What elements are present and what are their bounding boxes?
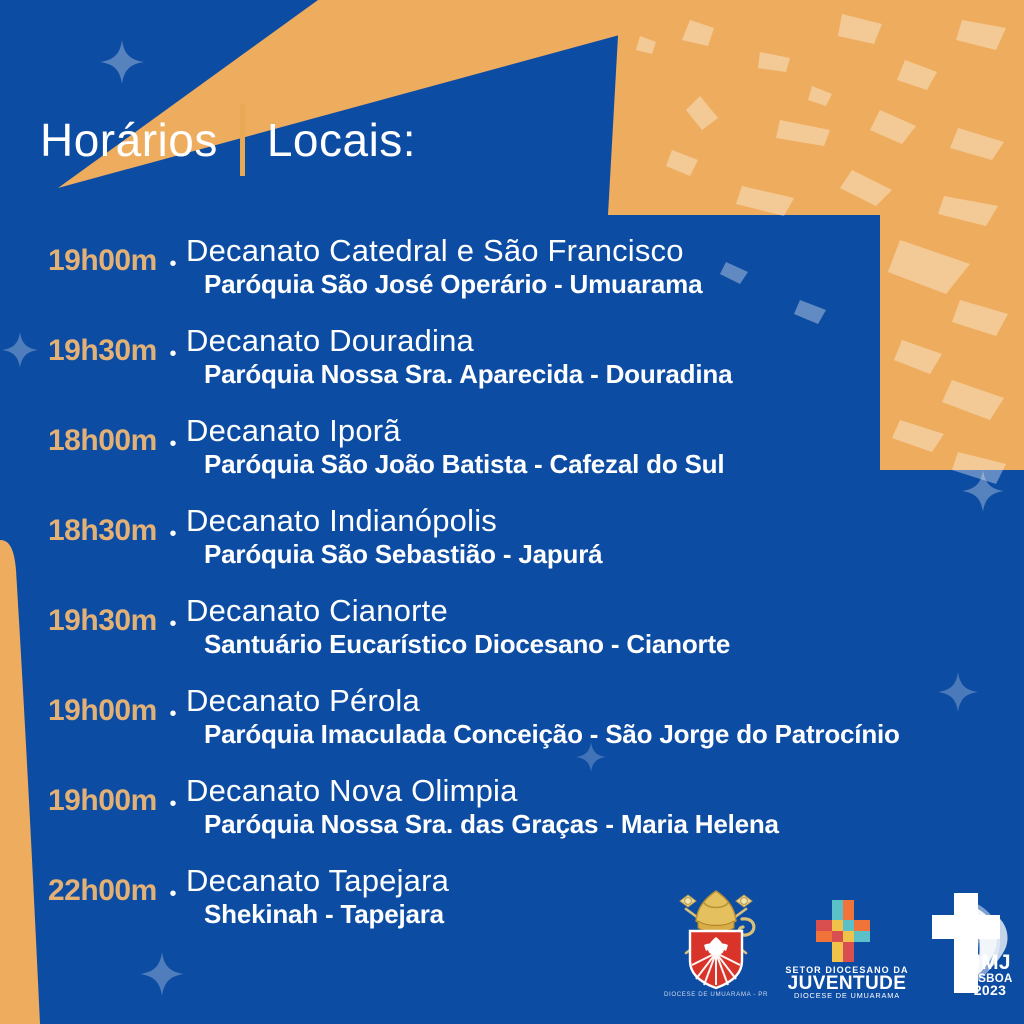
diocese-caption: DIOCESE DE UMUARAMA - PR	[664, 991, 768, 998]
list-item: 19h00m • Decanato Nova Olimpia Paróquia …	[0, 768, 1024, 858]
sparkle-icon	[100, 40, 144, 84]
entry-decanato: Decanato Catedral e São Francisco	[186, 234, 1024, 269]
entry-decanato: Decanato Iporã	[186, 414, 1024, 449]
poster-canvas: Horários Locais: 19h00m • Decanato Cated…	[0, 0, 1024, 1024]
entry-local: Santuário Eucarístico Diocesano - Cianor…	[186, 630, 1024, 659]
list-item: 19h00m • Decanato Pérola Paróquia Imacul…	[0, 678, 1024, 768]
entry-decanato: Decanato Douradina	[186, 324, 1024, 359]
entry-time: 19h00m	[0, 768, 160, 816]
entry-decanato: Decanato Pérola	[186, 684, 1024, 719]
jmj-lisboa-2023-icon: JMJ LISBOA 2023	[926, 889, 1018, 999]
bullet-icon: •	[160, 588, 186, 634]
bullet-icon: •	[160, 318, 186, 364]
sparkle-icon	[140, 952, 184, 996]
entry-texts: Decanato Iporã Paróquia São João Batista…	[186, 408, 1024, 479]
entry-local: Paróquia São José Operário - Umuarama	[186, 270, 1024, 299]
list-item: 19h30m • Decanato Cianorte Santuário Euc…	[0, 588, 1024, 678]
jmj-line3: 2023	[974, 982, 1006, 998]
diocese-umuarama-coat-of-arms-icon: DIOCESE DE UMUARAMA - PR	[664, 887, 768, 999]
entry-local: Paróquia São Sebastião - Japurá	[186, 540, 1024, 569]
entry-local: Paróquia Imaculada Conceição - São Jorge…	[186, 720, 1024, 749]
bullet-icon: •	[160, 228, 186, 274]
entry-texts: Decanato Pérola Paróquia Imaculada Conce…	[186, 678, 1024, 749]
entry-decanato: Decanato Indianópolis	[186, 504, 1024, 539]
entry-local: Paróquia Nossa Sra. das Graças - Maria H…	[186, 810, 1024, 839]
page-title-locais: Locais:	[267, 117, 416, 163]
entry-time: 18h00m	[0, 408, 160, 456]
entry-time: 19h00m	[0, 678, 160, 726]
entry-time: 19h30m	[0, 318, 160, 366]
entry-texts: Decanato Cianorte Santuário Eucarístico …	[186, 588, 1024, 659]
setor-diocesano-juventude-icon: SETOR DIOCESANO DA JUVENTUDE DIOCESE DE …	[782, 894, 912, 999]
entry-texts: Decanato Nova Olimpia Paróquia Nossa Sra…	[186, 768, 1024, 839]
entry-time: 19h00m	[0, 228, 160, 276]
entry-texts: Decanato Indianópolis Paróquia São Sebas…	[186, 498, 1024, 569]
bullet-icon: •	[160, 678, 186, 724]
bullet-icon: •	[160, 768, 186, 814]
entry-decanato: Decanato Nova Olimpia	[186, 774, 1024, 809]
list-item: 18h00m • Decanato Iporã Paróquia São Joã…	[0, 408, 1024, 498]
title-divider	[240, 104, 245, 176]
juventude-line3: DIOCESE DE UMUARAMA	[794, 991, 900, 999]
page-title-horarios: Horários	[40, 117, 218, 163]
entry-texts: Decanato Douradina Paróquia Nossa Sra. A…	[186, 318, 1024, 389]
entry-time: 19h30m	[0, 588, 160, 636]
list-item: 19h00m • Decanato Catedral e São Francis…	[0, 228, 1024, 318]
entry-time: 18h30m	[0, 498, 160, 546]
jmj-line1: JMJ	[969, 951, 1011, 974]
schedule-list: 19h00m • Decanato Catedral e São Francis…	[0, 228, 1024, 948]
page-title: Horários Locais:	[40, 104, 416, 176]
bullet-icon: •	[160, 408, 186, 454]
entry-time: 22h00m	[0, 858, 160, 906]
entry-texts: Decanato Catedral e São Francisco Paróqu…	[186, 228, 1024, 299]
bullet-icon: •	[160, 858, 186, 904]
entry-decanato: Decanato Cianorte	[186, 594, 1024, 629]
entry-local: Paróquia São João Batista - Cafezal do S…	[186, 450, 1024, 479]
list-item: 19h30m • Decanato Douradina Paróquia Nos…	[0, 318, 1024, 408]
logo-row: DIOCESE DE UMUARAMA - PR SETOR DIOCESANO…	[664, 884, 1014, 999]
entry-local: Paróquia Nossa Sra. Aparecida - Douradin…	[186, 360, 1024, 389]
list-item: 18h30m • Decanato Indianópolis Paróquia …	[0, 498, 1024, 588]
bullet-icon: •	[160, 498, 186, 544]
